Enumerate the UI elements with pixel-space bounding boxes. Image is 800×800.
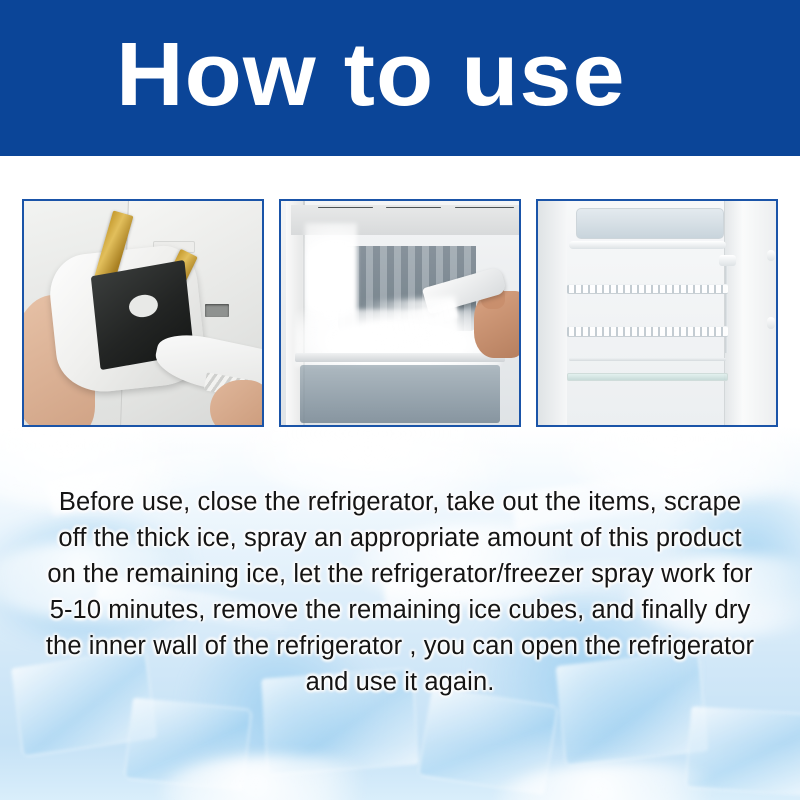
plug-unplug-photo	[24, 201, 262, 425]
step-photo-row	[22, 199, 778, 427]
spray-freezer-photo	[281, 201, 519, 425]
step-photo-2-spray	[279, 199, 521, 427]
how-to-use-infographic: How to use	[0, 0, 800, 800]
clean-refrigerator-photo	[538, 201, 776, 425]
instruction-paragraph: Before use, close the refrigerator, take…	[42, 484, 758, 700]
step-photo-1-unplug	[22, 199, 264, 427]
page-title: How to use	[116, 30, 626, 120]
step-photo-3-clean-fridge	[536, 199, 778, 427]
header-banner: How to use	[0, 0, 800, 156]
